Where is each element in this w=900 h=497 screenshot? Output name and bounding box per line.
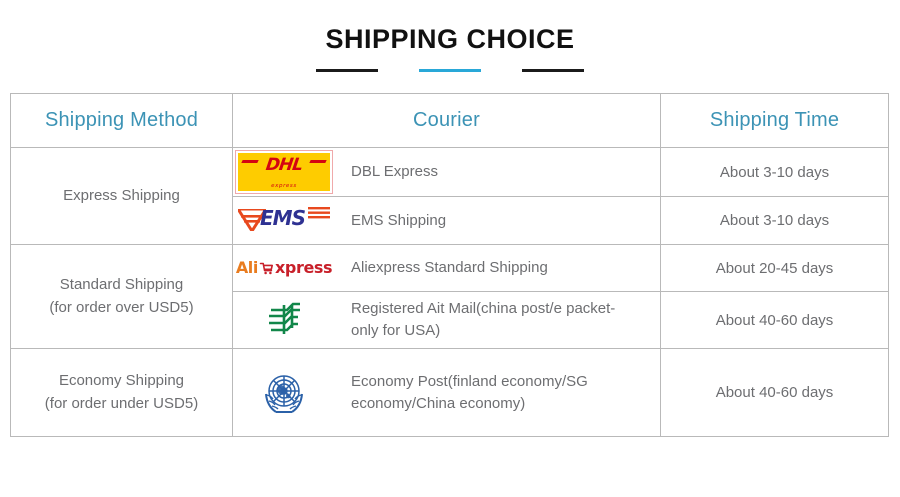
header-shipping-time: Shipping Time: [661, 94, 889, 148]
dhl-wordmark: DHL: [238, 157, 330, 174]
shopping-cart-icon: [259, 261, 274, 276]
courier-label: Registered Ait Mail(china post/e packet-…: [351, 298, 631, 342]
courier-cell-ems: EMS EMS Shipping: [233, 197, 661, 245]
courier-cell-un-post: Economy Post(finland economy/SG economy/…: [233, 349, 661, 437]
un-post-logo: [233, 365, 335, 421]
table-row: Economy Shipping (for order under USD5): [11, 349, 889, 437]
rule-left: [316, 69, 378, 72]
courier-label: Aliexpress Standard Shipping: [351, 257, 548, 279]
shipping-table-wrapper: Shipping Method Courier Shipping Time Ex…: [10, 93, 888, 437]
courier-cell-china-post: Registered Ait Mail(china post/e packet-…: [233, 292, 661, 349]
table-row: Standard Shipping (for order over USD5) …: [11, 245, 889, 292]
courier-cell-dhl: DHL express DBL Express: [233, 148, 661, 197]
method-cell-economy: Economy Shipping (for order under USD5): [11, 349, 233, 437]
courier-label: DBL Express: [351, 161, 438, 183]
aliexpress-wordmark-first: Ali: [236, 260, 258, 276]
courier-label: EMS Shipping: [351, 210, 446, 232]
table-row: Express Shipping DHL express: [11, 148, 889, 197]
title-block: SHIPPING CHOICE: [0, 0, 900, 72]
method-cell-express: Express Shipping: [11, 148, 233, 245]
shipping-choice-page: SHIPPING CHOICE Shipping Method Courier …: [0, 0, 900, 497]
ems-logo-mark: EMS: [238, 204, 330, 238]
aliexpress-logo: Ali xpress: [233, 260, 335, 276]
dhl-subtext: express: [238, 184, 330, 190]
method-label: Express Shipping: [63, 187, 180, 204]
china-post-logo: [233, 298, 335, 342]
method-note: (for order over USD5): [11, 297, 232, 320]
method-label: Standard Shipping: [60, 276, 183, 293]
title-rules: [0, 69, 900, 72]
method-note: (for order under USD5): [11, 393, 232, 416]
method-cell-standard: Standard Shipping (for order over USD5): [11, 245, 233, 349]
time-cell: About 40-60 days: [661, 349, 889, 437]
dhl-logo-bar: DHL express: [238, 153, 330, 191]
dhl-logo-frame: DHL express: [235, 150, 333, 194]
time-cell: About 3-10 days: [661, 197, 889, 245]
united-nations-emblem-icon: [256, 365, 312, 421]
dhl-logo: DHL express: [233, 150, 335, 194]
ems-stripes-icon: [308, 207, 330, 219]
rule-center-accent: [419, 69, 481, 72]
time-cell: About 40-60 days: [661, 292, 889, 349]
time-cell: About 20-45 days: [661, 245, 889, 292]
ems-wordmark: EMS: [260, 208, 305, 228]
china-post-logo-mark: [262, 298, 306, 342]
shipping-table: Shipping Method Courier Shipping Time Ex…: [10, 93, 889, 437]
table-body: Express Shipping DHL express: [11, 148, 889, 437]
method-label: Economy Shipping: [59, 372, 184, 389]
aliexpress-logo-mark: Ali xpress: [236, 260, 332, 276]
courier-label: Economy Post(finland economy/SG economy/…: [351, 371, 631, 415]
page-title: SHIPPING CHOICE: [0, 26, 900, 53]
header-shipping-method: Shipping Method: [11, 94, 233, 148]
china-post-emblem-icon: [262, 298, 306, 342]
aliexpress-wordmark-second: xpress: [275, 260, 332, 276]
ems-logo: EMS: [233, 204, 335, 238]
time-cell: About 3-10 days: [661, 148, 889, 197]
courier-cell-aliexpress: Ali xpress Ali: [233, 245, 661, 292]
rule-right: [522, 69, 584, 72]
header-row: Shipping Method Courier Shipping Time: [11, 94, 889, 148]
header-courier: Courier: [233, 94, 661, 148]
table-header: Shipping Method Courier Shipping Time: [11, 94, 889, 148]
un-logo-mark: [256, 365, 312, 421]
